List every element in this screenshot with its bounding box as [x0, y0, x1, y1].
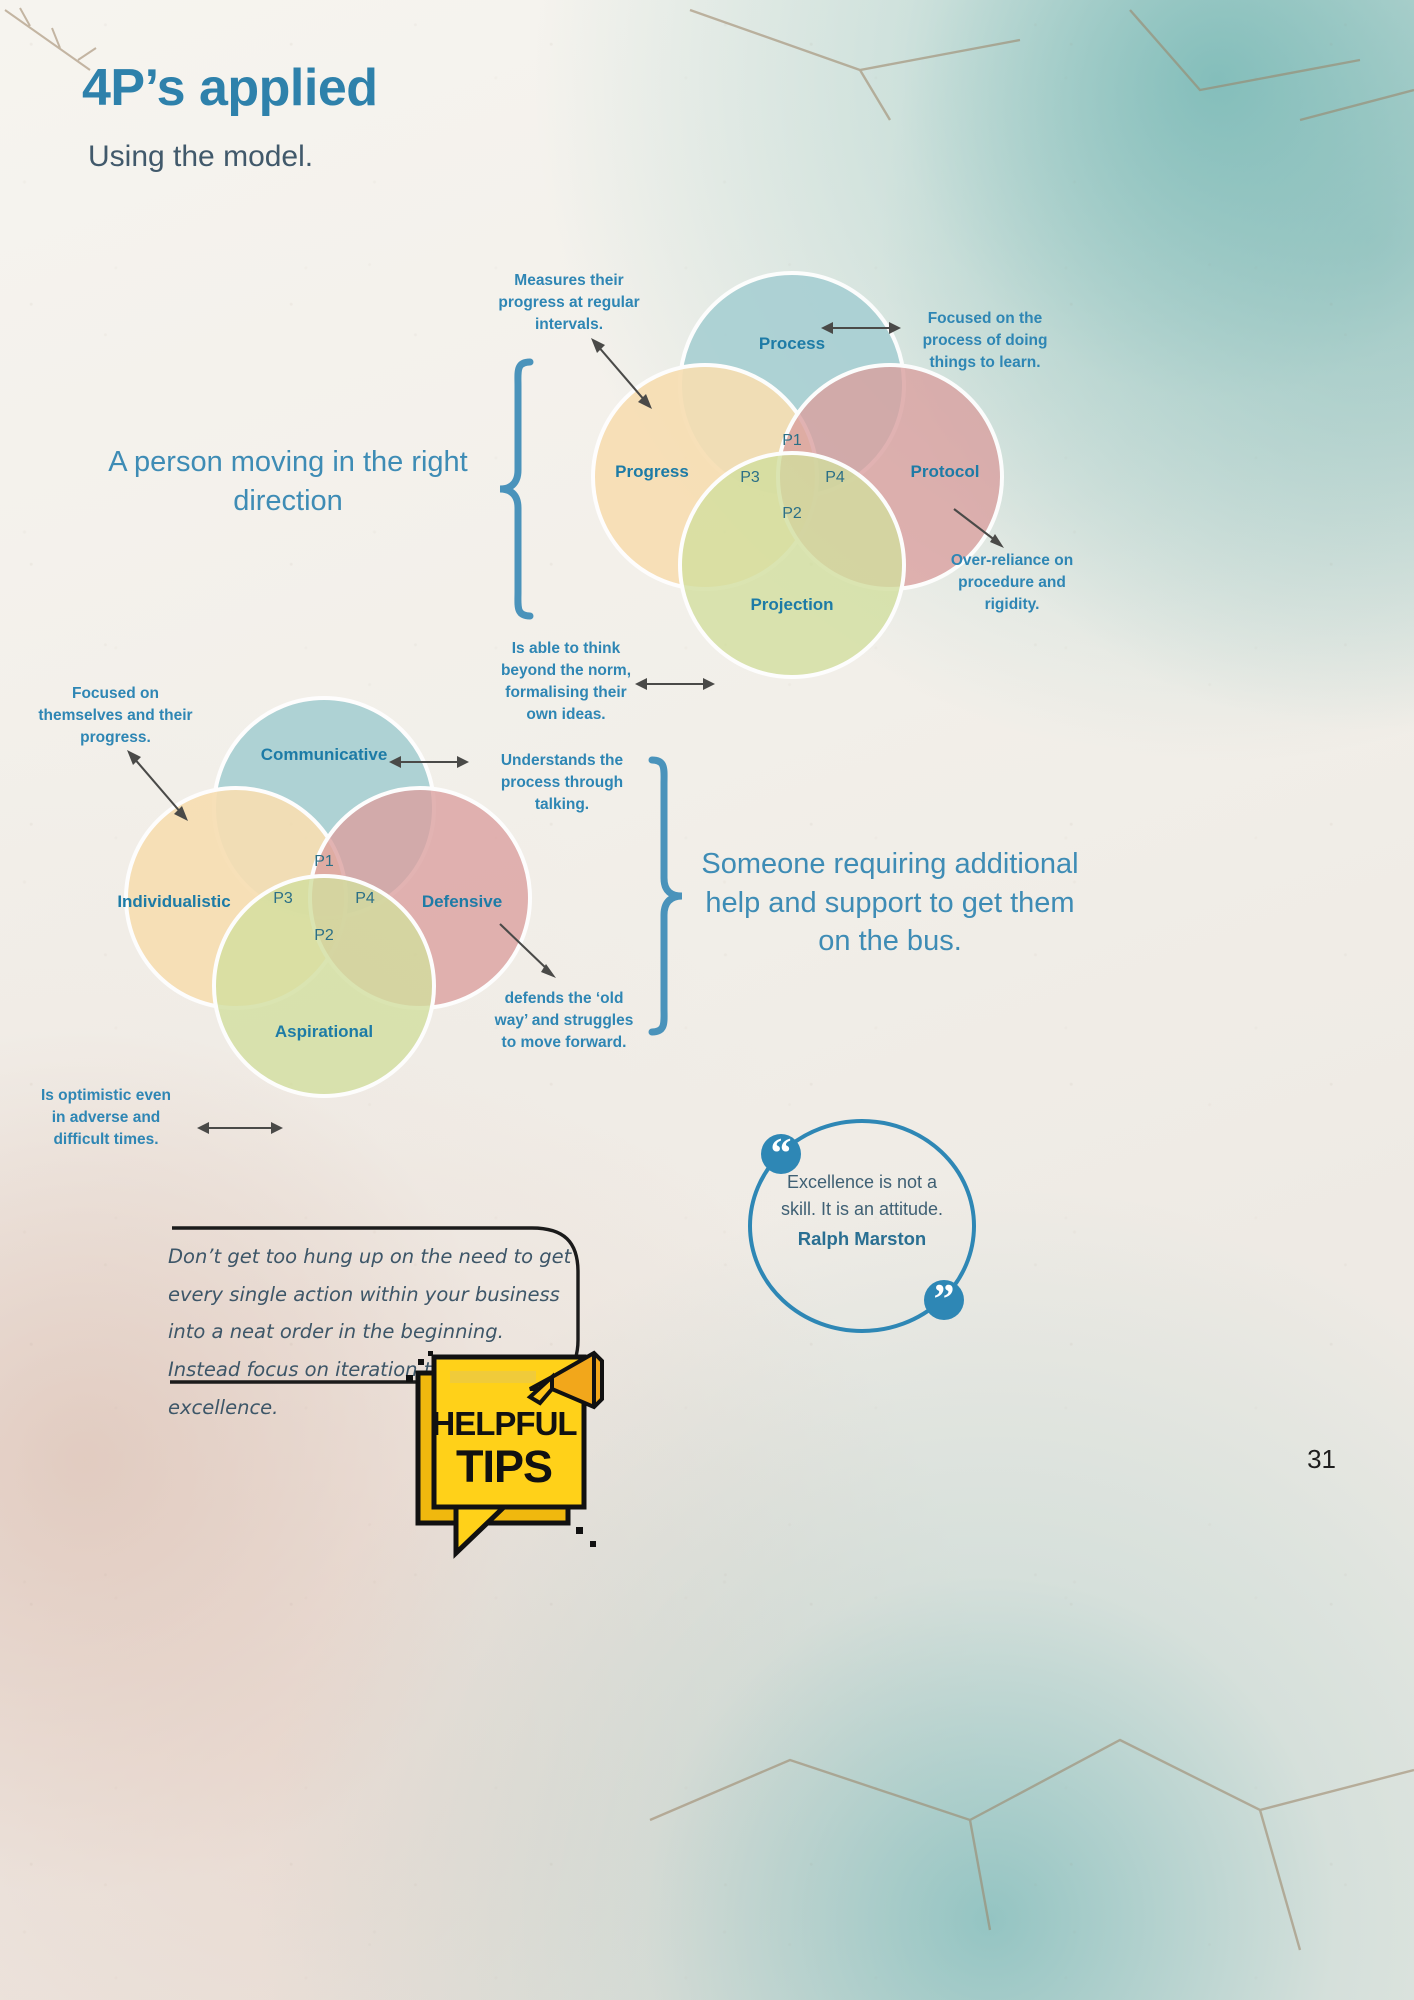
- quote-text-block: Excellence is not a skill. It is an atti…: [770, 1169, 954, 1253]
- callout-measures-progress: Measures their progress at regular inter…: [495, 270, 643, 336]
- twig-decoration-top-right: [660, 0, 1414, 260]
- brace-positive: [496, 358, 536, 620]
- venn1-intersection-p3: P3: [740, 469, 760, 486]
- venn2-intersection-p4: P4: [355, 890, 375, 907]
- quote-author: Ralph Marston: [770, 1225, 954, 1253]
- arrow-think-beyond: [634, 676, 716, 692]
- helpful-tips-label: HELPFUL TIPS: [404, 1407, 604, 1489]
- venn1-label-progress: Progress: [615, 462, 689, 481]
- arrow-measures: [588, 336, 656, 412]
- page-number: 31: [1307, 1444, 1336, 1475]
- callout-understands-process: Understands the process through talking.: [486, 750, 638, 816]
- callout-defends-old-way: defends the ‘old way’ and struggles to m…: [490, 988, 638, 1054]
- helpful-tips-line-1: HELPFUL: [404, 1407, 604, 1440]
- venn2-intersection-p1: P1: [314, 853, 334, 870]
- arrow-defends: [496, 920, 558, 980]
- brace-negative: [646, 756, 686, 1036]
- page-subtitle: Using the model.: [88, 140, 313, 174]
- venn1-intersection-p2: P2: [782, 505, 802, 522]
- venn1-label-projection: Projection: [750, 595, 833, 614]
- circle-aspirational: [214, 876, 434, 1096]
- brace-label-positive: A person moving in the right direction: [108, 443, 468, 520]
- venn1-intersection-p1: P1: [782, 432, 802, 449]
- arrow-optimistic: [196, 1120, 284, 1136]
- callout-focused-on-process: Focused on the process of doing things t…: [910, 308, 1060, 374]
- callout-over-reliance: Over-reliance on procedure and rigidity.: [938, 550, 1086, 616]
- helpful-tips-line-2: TIPS: [404, 1444, 604, 1489]
- venn1-label-protocol: Protocol: [911, 462, 980, 481]
- venn1-label-process: Process: [759, 334, 825, 353]
- helpful-tips-badge: HELPFUL TIPS: [404, 1345, 604, 1560]
- venn2-intersection-p3: P3: [273, 890, 293, 907]
- arrow-focused-process: [820, 320, 902, 336]
- quote-text: Excellence is not a skill. It is an atti…: [781, 1172, 943, 1219]
- brace-label-negative: Someone requiring additional help and su…: [700, 845, 1080, 961]
- callout-focused-on-themselves: Focused on themselves and their progress…: [38, 683, 193, 749]
- venn2-label-individualistic: Individualistic: [117, 892, 230, 911]
- venn2-label-communicative: Communicative: [261, 745, 388, 764]
- quote-bubble: “ ” Excellence is not a skill. It is an …: [742, 1117, 982, 1335]
- page-title: 4P’s applied: [82, 58, 378, 118]
- arrow-over-reliance: [950, 505, 1006, 549]
- svg-text:”: ”: [934, 1277, 955, 1323]
- venn2-label-aspirational: Aspirational: [275, 1022, 373, 1041]
- twig-decoration-bottom-right: [640, 1700, 1414, 2000]
- arrow-focused-themselves: [124, 748, 192, 824]
- circle-projection: [680, 453, 904, 677]
- arrow-understands: [388, 754, 470, 770]
- venn2-intersection-p2: P2: [314, 927, 334, 944]
- venn2-label-defensive: Defensive: [422, 892, 502, 911]
- callout-optimistic: Is optimistic even in adverse and diffic…: [32, 1085, 180, 1151]
- venn1-intersection-p4: P4: [825, 469, 845, 486]
